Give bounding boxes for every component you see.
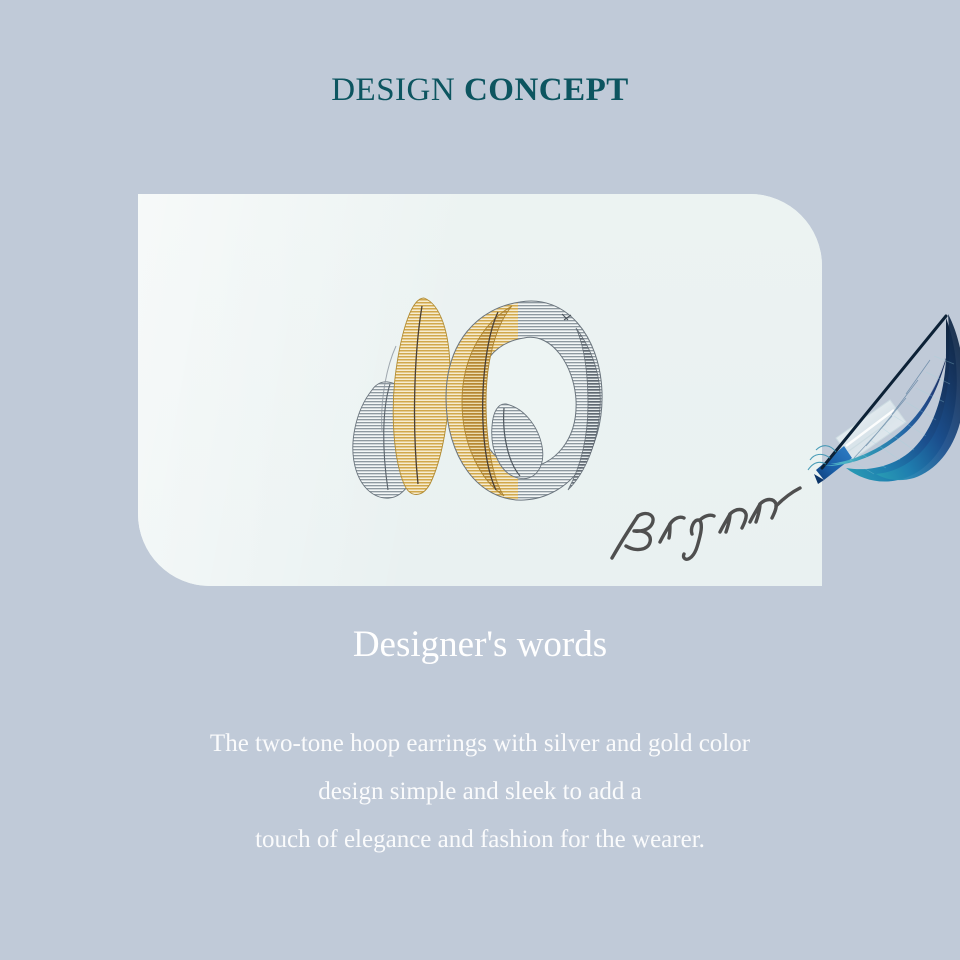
left-earring-gold-part [393, 298, 450, 495]
earrings-sketch-illustration [338, 284, 668, 514]
feather-shaft [822, 316, 946, 468]
feather-lower-vane [824, 328, 952, 466]
page-title: DESIGN CONCEPT [0, 70, 960, 110]
concept-card [138, 194, 822, 586]
body-line-1: The two-tone hoop earrings with silver a… [80, 720, 880, 768]
earrings-sketch-svg [338, 284, 668, 514]
body-line-3: touch of elegance and fashion for the we… [80, 816, 880, 864]
signature-svg [600, 484, 822, 574]
page-title-regular: DESIGN [331, 72, 464, 108]
designer-signature [600, 484, 822, 574]
designer-words-body: The two-tone hoop earrings with silver a… [80, 720, 880, 864]
feather-upper-vane [846, 314, 960, 482]
feather-barbs [850, 356, 954, 474]
design-concept-poster: DESIGN CONCEPT [0, 0, 960, 960]
quill-glass-holder [836, 400, 906, 460]
page-title-bold: CONCEPT [464, 72, 629, 108]
body-line-2: design simple and sleek to add a [80, 768, 880, 816]
designer-words-heading: Designer's words [0, 620, 960, 670]
